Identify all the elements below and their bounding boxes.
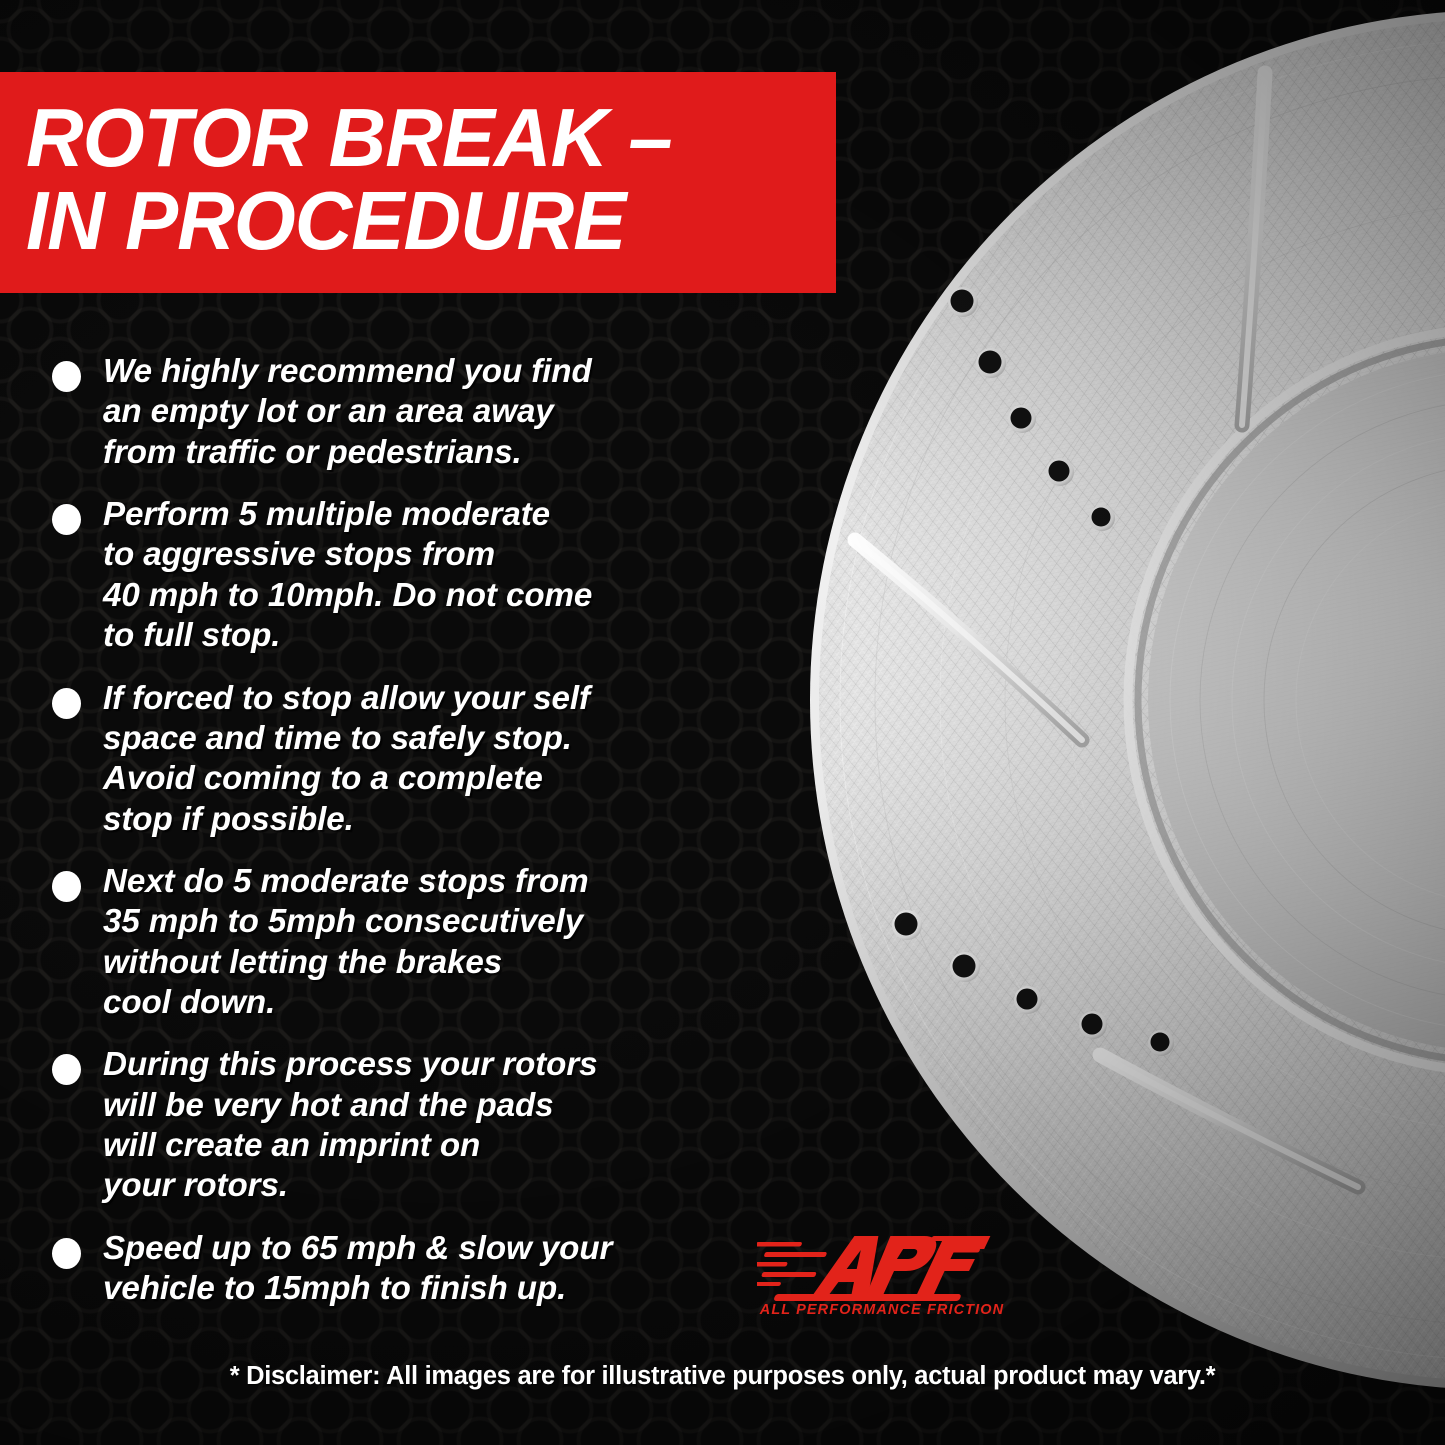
- promotional-infographic: ROTOR BREAK – IN PROCEDURE We highly rec…: [0, 0, 1445, 1445]
- procedure-steps-list: We highly recommend you find an empty lo…: [46, 352, 766, 1332]
- disclaimer-text: * Disclaimer: All images are for illustr…: [0, 1362, 1445, 1391]
- page-title-line-2: IN PROCEDURE: [26, 180, 804, 262]
- bullet-dot-icon: [52, 688, 81, 719]
- apf-brand-logo: ALL PERFORMANCE FRICTION: [757, 1228, 1007, 1332]
- apf-logo-tagline: ALL PERFORMANCE FRICTION: [757, 1302, 1007, 1318]
- bullet-dot-icon: [52, 504, 81, 535]
- list-item-label: Perform 5 multiple moderate to aggressiv…: [103, 495, 592, 656]
- bullet-dot-icon: [52, 1054, 81, 1085]
- list-item: If forced to stop allow your self space …: [46, 679, 766, 840]
- bullet-dot-icon: [52, 361, 81, 392]
- list-item: We highly recommend you find an empty lo…: [46, 352, 766, 473]
- list-item-label: Next do 5 moderate stops from 35 mph to …: [103, 862, 589, 1023]
- list-item: Perform 5 multiple moderate to aggressiv…: [46, 495, 766, 656]
- list-item: Speed up to 65 mph & slow your vehicle t…: [46, 1229, 766, 1310]
- list-item-label: We highly recommend you find an empty lo…: [103, 352, 592, 473]
- title-banner: ROTOR BREAK – IN PROCEDURE: [0, 72, 836, 293]
- bullet-dot-icon: [52, 871, 81, 902]
- apf-logo-icon: [757, 1228, 1007, 1302]
- page-title-line-1: ROTOR BREAK –: [26, 97, 804, 179]
- list-item: During this process your rotors will be …: [46, 1045, 766, 1206]
- bullet-dot-icon: [52, 1238, 81, 1269]
- list-item-label: If forced to stop allow your self space …: [103, 679, 590, 840]
- list-item-label: During this process your rotors will be …: [103, 1045, 597, 1206]
- list-item-label: Speed up to 65 mph & slow your vehicle t…: [103, 1229, 612, 1310]
- list-item: Next do 5 moderate stops from 35 mph to …: [46, 862, 766, 1023]
